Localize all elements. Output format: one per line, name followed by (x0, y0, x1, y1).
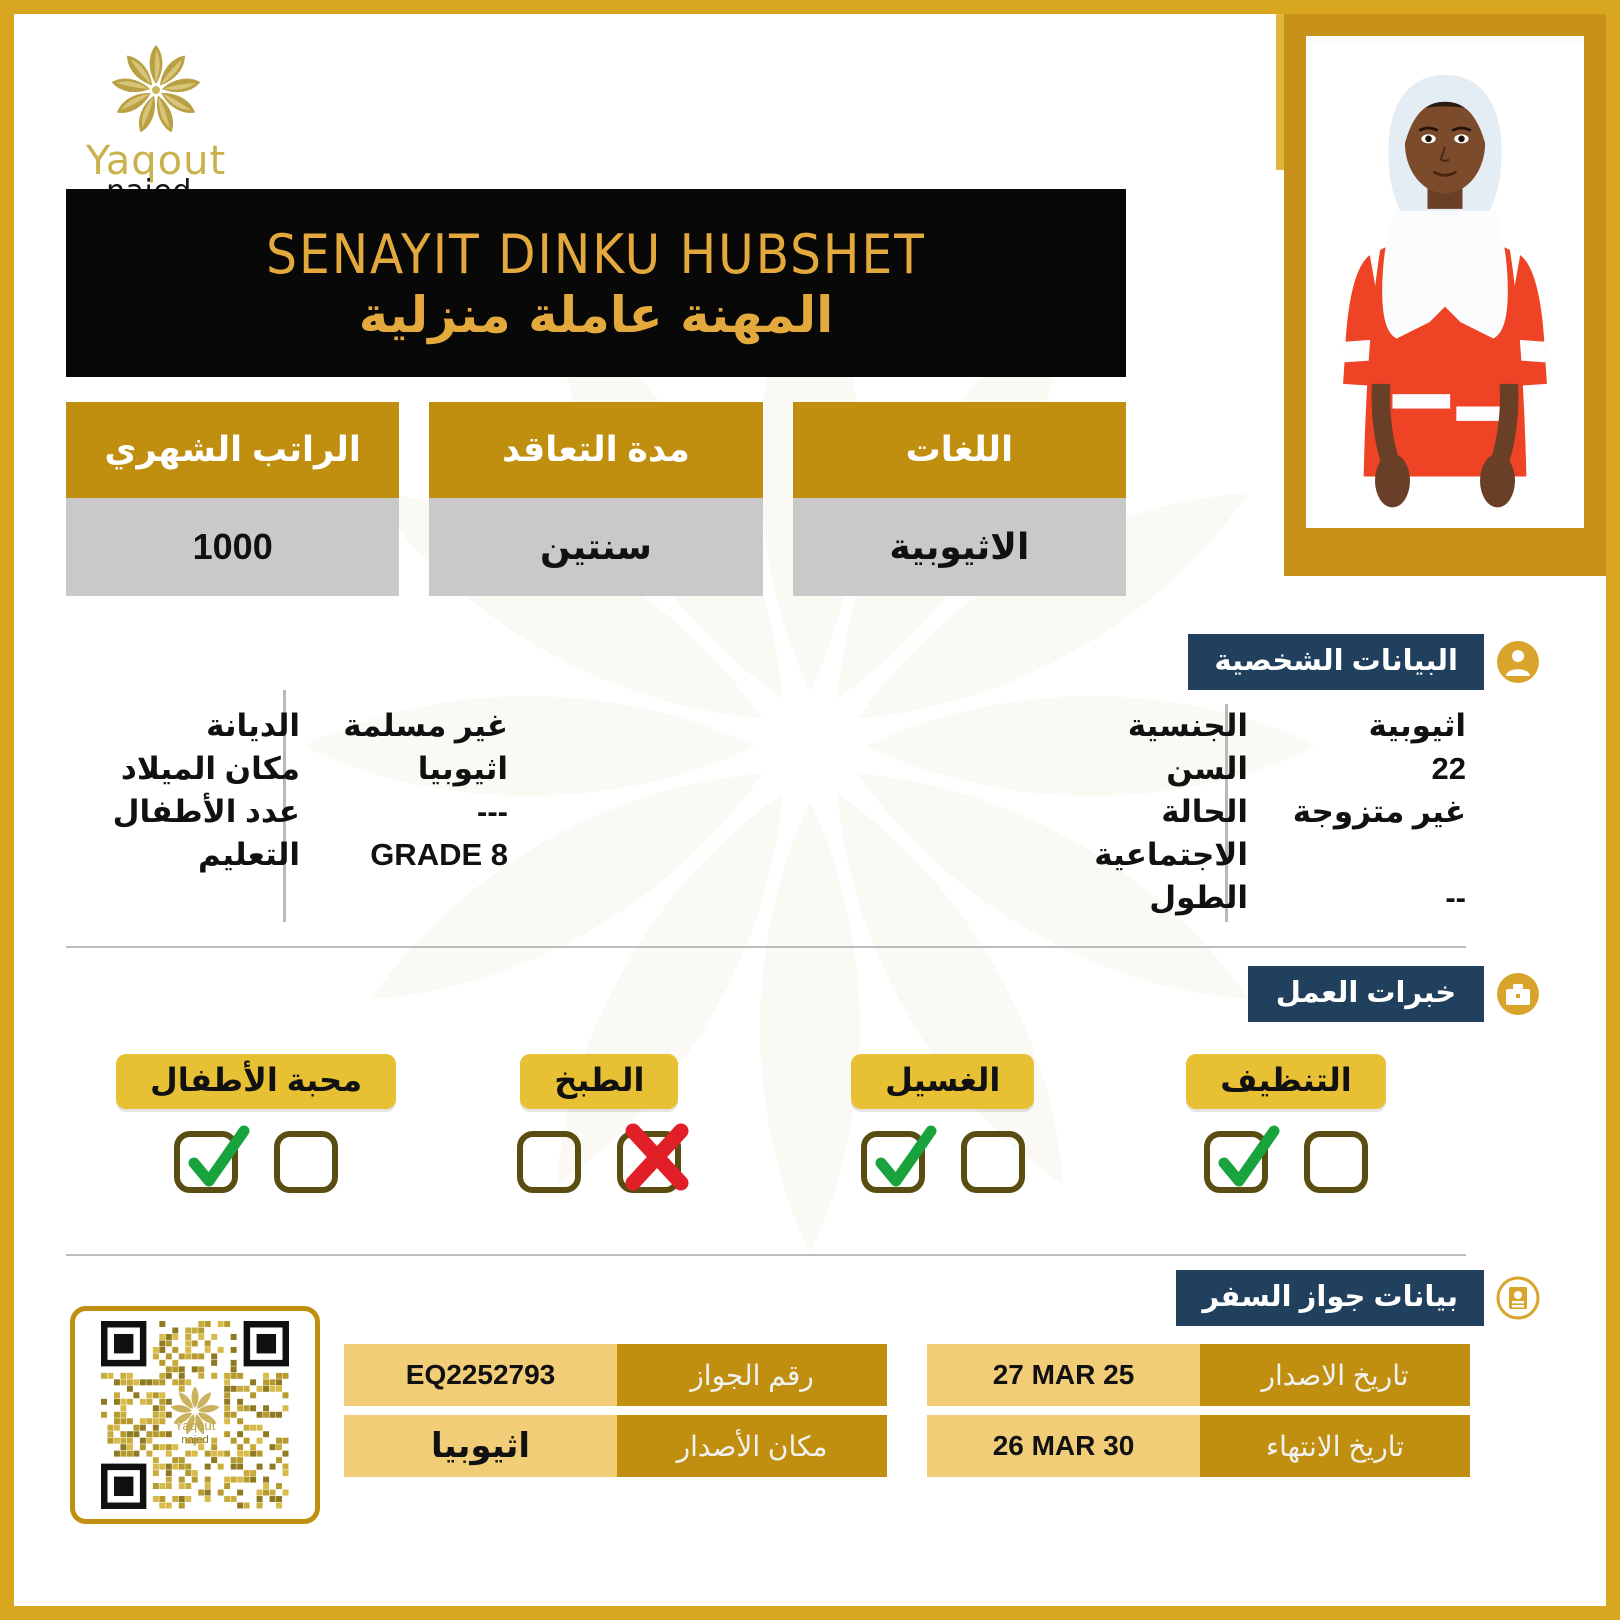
passport-value: 26 MAR 30 (927, 1415, 1200, 1477)
passport-row: رقم الجواز EQ2252793 (344, 1344, 887, 1406)
section-header-personal: البيانات الشخصية (1188, 634, 1484, 690)
checkbox-no[interactable] (961, 1131, 1025, 1193)
personal-label: مكان الميلاد (108, 747, 308, 790)
person-icon (1496, 640, 1540, 684)
passport-row: مكان الأصدار اثيوبيا (344, 1415, 887, 1477)
summary-value: سنتين (429, 498, 762, 596)
checkbox-yes[interactable] (861, 1131, 925, 1193)
personal-value: GRADE 8 (318, 833, 508, 876)
personal-label: الحالة الاجتماعية (1046, 790, 1256, 876)
summary-box-languages: اللغات الاثيوبية (793, 402, 1126, 596)
personal-row: --- عدد الأطفال (108, 790, 508, 833)
personal-value: غير متزوجة (1276, 790, 1466, 876)
section-title: البيانات الشخصية (1188, 634, 1484, 690)
brand-logo: Yaqout najed (66, 42, 246, 209)
personal-column-right: اثيوبية الجنسية 22 السن غير متزوجة الحال… (1046, 704, 1466, 919)
skill-cleaning: التنظيف (1136, 1054, 1436, 1193)
checkbox-yes[interactable] (517, 1131, 581, 1193)
personal-value: 22 (1276, 747, 1466, 790)
passport-tables: رقم الجواز EQ2252793 مكان الأصدار اثيوبي… (344, 1344, 1470, 1477)
summary-box-salary: الراتب الشهري 1000 (66, 402, 399, 596)
personal-label: السن (1046, 747, 1256, 790)
briefcase-icon (1496, 972, 1540, 1016)
passport-value: 27 MAR 25 (927, 1344, 1200, 1406)
passport-row: تاريخ الانتهاء 26 MAR 30 (927, 1415, 1470, 1477)
check-mark-icon (855, 1113, 947, 1205)
skill-checkboxes (174, 1131, 338, 1193)
name-banner: SENAYIT DINKU HUBSHET المهنة عاملة منزلي… (66, 189, 1126, 377)
skill-label: الطبخ (520, 1054, 678, 1109)
summary-label: مدة التعاقد (429, 402, 762, 498)
skill-checkboxes (861, 1131, 1025, 1193)
page-border: Yaqout najed SENAYIT DINKU HUBSHET المهن… (0, 0, 1620, 1620)
personal-label: الطول (1046, 876, 1256, 919)
flower-logo-icon (96, 42, 216, 146)
svg-text:Yaqout: Yaqout (175, 1418, 216, 1433)
svg-text:najed: najed (181, 1434, 209, 1446)
skill-cooking: الطبخ (449, 1054, 749, 1193)
check-mark-icon (168, 1113, 260, 1205)
passport-icon (1496, 1276, 1540, 1320)
checkbox-yes[interactable] (1204, 1131, 1268, 1193)
skill-label: التنظيف (1186, 1054, 1385, 1109)
photo-frame (1284, 14, 1606, 576)
passport-label: تاريخ الاصدار (1200, 1344, 1470, 1406)
personal-value: --- (318, 790, 508, 833)
skill-checkboxes (517, 1131, 681, 1193)
section-divider (66, 946, 1466, 948)
passport-row: تاريخ الاصدار 27 MAR 25 (927, 1344, 1470, 1406)
summary-label: الراتب الشهري (66, 402, 399, 498)
personal-label: عدد الأطفال (108, 790, 308, 833)
summary-label: اللغات (793, 402, 1126, 498)
personal-label: الديانة (108, 704, 308, 747)
skills-row: التنظيف الغسيل الطبخ (106, 1054, 1436, 1193)
personal-value: اثيوبية (1276, 704, 1466, 747)
cross-mark-icon (611, 1113, 703, 1205)
section-title: بيانات جواز السفر (1176, 1270, 1484, 1326)
cv-sheet: Yaqout najed SENAYIT DINKU HUBSHET المهن… (14, 14, 1606, 1606)
checkbox-no[interactable] (617, 1131, 681, 1193)
skill-laundry: الغسيل (793, 1054, 1093, 1193)
personal-label: التعليم (108, 833, 308, 876)
passport-label: تاريخ الانتهاء (1200, 1415, 1470, 1477)
personal-value: -- (1276, 876, 1466, 919)
personal-row: -- الطول (1046, 876, 1466, 919)
personal-row: غير متزوجة الحالة الاجتماعية (1046, 790, 1466, 876)
personal-column-mid: غير مسلمة الديانة اثيوبيا مكان الميلاد -… (108, 704, 508, 876)
job-title: المهنة عاملة منزلية (359, 288, 834, 343)
checkbox-yes[interactable] (174, 1131, 238, 1193)
applicant-name-latin: SENAYIT DINKU HUBSHET (266, 223, 926, 286)
checkbox-no[interactable] (1304, 1131, 1368, 1193)
personal-label: الجنسية (1046, 704, 1256, 747)
section-header-experience: خبرات العمل (1248, 966, 1484, 1022)
skill-checkboxes (1204, 1131, 1368, 1193)
passport-label: مكان الأصدار (617, 1415, 887, 1477)
personal-value: اثيوبيا (318, 747, 508, 790)
personal-row: غير مسلمة الديانة (108, 704, 508, 747)
passport-value: اثيوبيا (344, 1415, 617, 1477)
skill-childcare: محبة الأطفال (106, 1054, 406, 1193)
checkbox-no[interactable] (274, 1131, 338, 1193)
passport-label: رقم الجواز (617, 1344, 887, 1406)
section-title: خبرات العمل (1248, 966, 1484, 1022)
passport-value: EQ2252793 (344, 1344, 617, 1406)
passport-table-left: تاريخ الاصدار 27 MAR 25 تاريخ الانتهاء 2… (927, 1344, 1470, 1477)
skill-label: الغسيل (851, 1054, 1034, 1109)
section-header-passport: بيانات جواز السفر (1176, 1270, 1484, 1326)
qr-code-icon[interactable]: Yaqoutnajed (70, 1306, 320, 1524)
check-mark-icon (1198, 1113, 1290, 1205)
personal-value: غير مسلمة (318, 704, 508, 747)
passport-table-right: رقم الجواز EQ2252793 مكان الأصدار اثيوبي… (344, 1344, 887, 1477)
summary-boxes: الراتب الشهري 1000 مدة التعاقد سنتين الل… (66, 402, 1126, 596)
summary-box-contract: مدة التعاقد سنتين (429, 402, 762, 596)
personal-row: اثيوبية الجنسية (1046, 704, 1466, 747)
summary-value: 1000 (66, 498, 399, 596)
gold-accent-stripe (1276, 14, 1284, 170)
section-divider (66, 1254, 1466, 1256)
skill-label: محبة الأطفال (116, 1054, 396, 1109)
applicant-photo (1306, 36, 1584, 528)
personal-row: 22 السن (1046, 747, 1466, 790)
personal-row: اثيوبيا مكان الميلاد (108, 747, 508, 790)
summary-value: الاثيوبية (793, 498, 1126, 596)
personal-row: GRADE 8 التعليم (108, 833, 508, 876)
